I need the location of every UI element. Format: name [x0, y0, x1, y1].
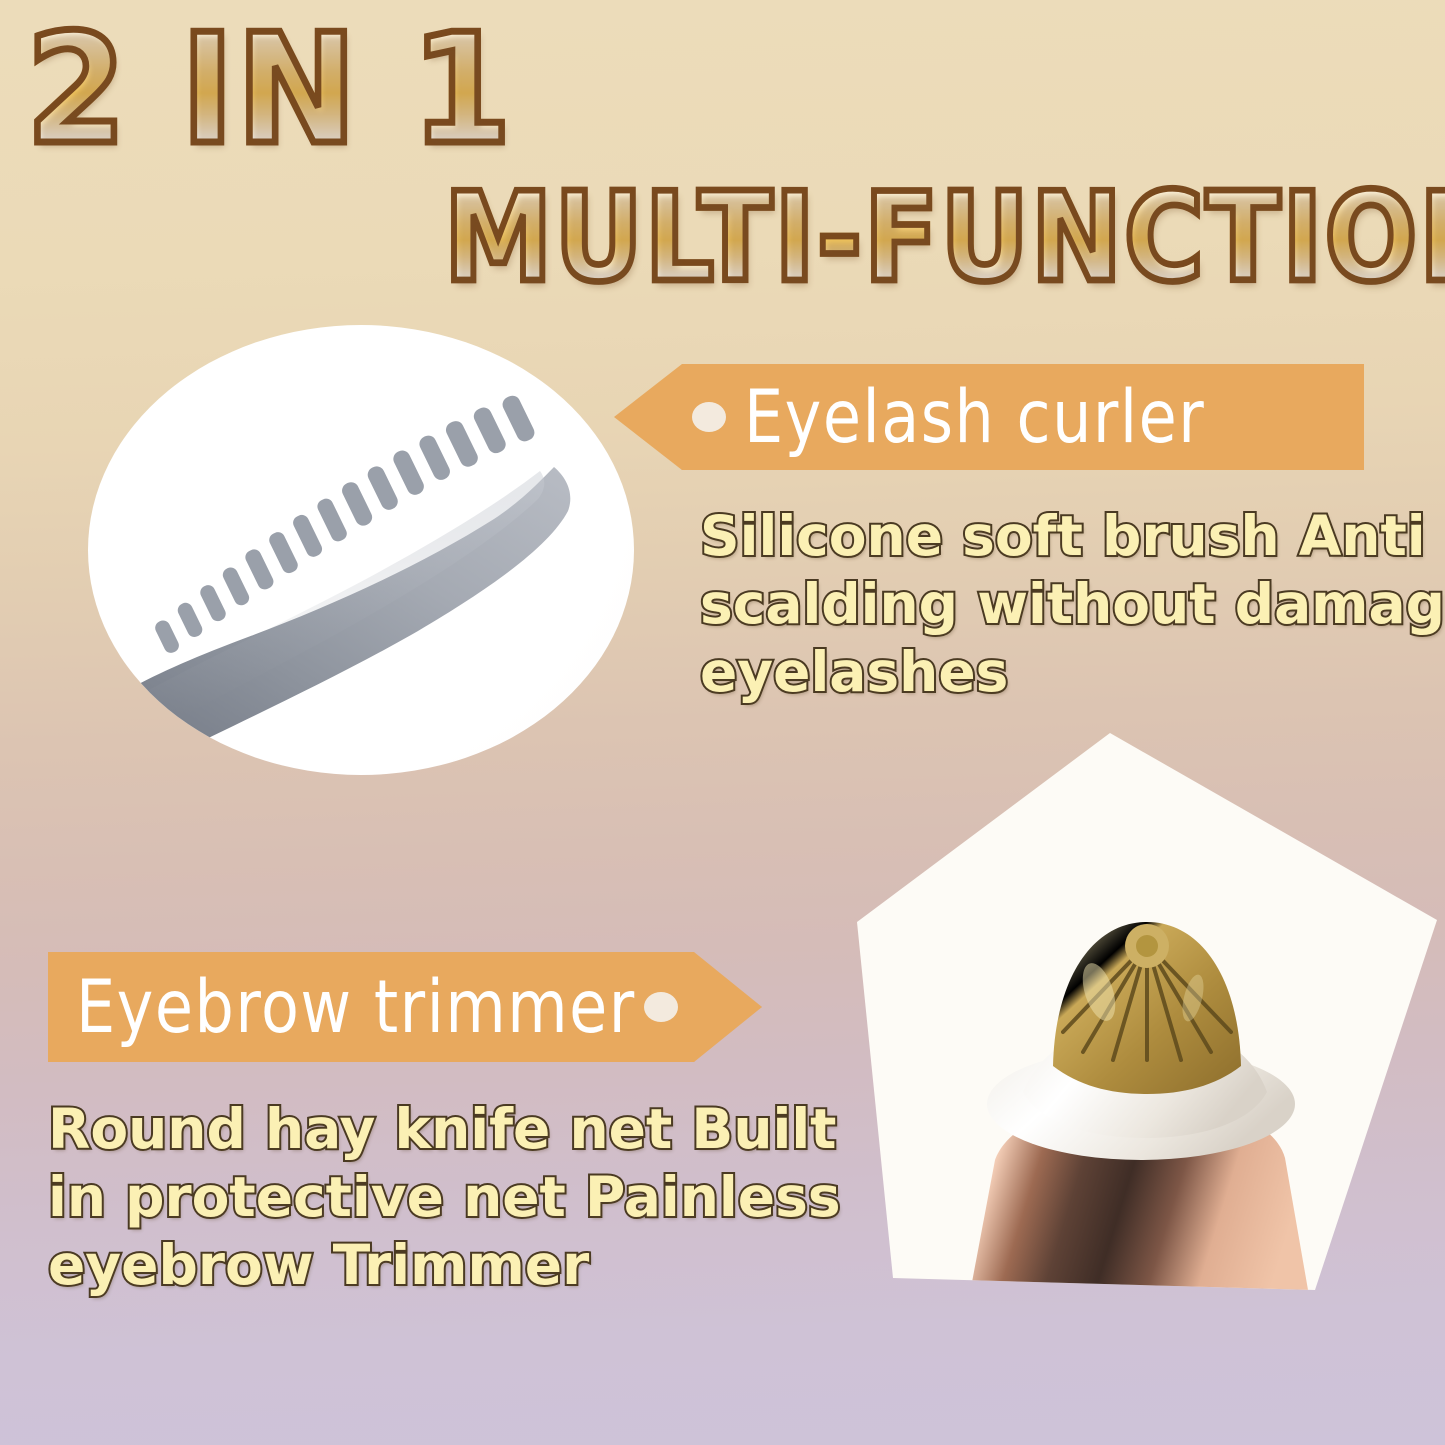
description-line: eyebrow Trimmer [48, 1231, 788, 1299]
feature-description-eyelash-curler: Silicone soft brush Anti scalding withou… [700, 502, 1430, 706]
headline-multi-function: MULTI-FUNCTION [444, 176, 1445, 299]
headline-2-in-1: 2 IN 1 [26, 14, 513, 166]
description-line: Round hay knife net Built [48, 1095, 788, 1163]
feature-description-eyebrow-trimmer: Round hay knife net Built in protective … [48, 1095, 788, 1299]
trimmer-head-illustration [845, 730, 1445, 1330]
bullet-dot-icon [692, 402, 726, 432]
headline-group: 2 IN 1 MULTI-FUNCTION [0, 0, 1445, 300]
feature-banner-label: Eyebrow trimmer [76, 970, 636, 1043]
description-line: scalding without damaging [700, 570, 1430, 638]
eyebrow-trimmer-product-photo [845, 730, 1445, 1330]
product-infographic-poster: 2 IN 1 MULTI-FUNCTION [0, 0, 1445, 1445]
feature-banner-eyelash-curler[interactable]: Eyelash curler [614, 364, 1364, 470]
description-line: in protective net Painless [48, 1163, 788, 1231]
description-line: eyelashes [700, 638, 1430, 706]
feature-banner-label: Eyelash curler [744, 380, 1205, 453]
silicone-brush-illustration [88, 325, 634, 775]
feature-banner-eyebrow-trimmer[interactable]: Eyebrow trimmer [48, 952, 762, 1062]
description-line: Silicone soft brush Anti [700, 502, 1430, 570]
bullet-dot-icon [644, 992, 678, 1022]
eyelash-curler-product-photo [88, 325, 634, 775]
